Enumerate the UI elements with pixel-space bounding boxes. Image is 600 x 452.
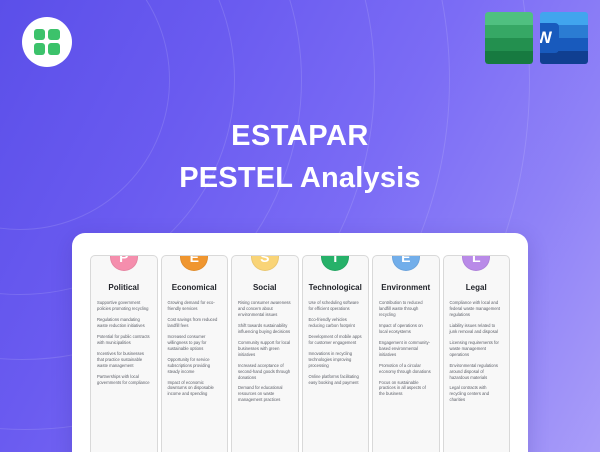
grid-blocks-icon bbox=[34, 29, 61, 56]
pestel-item: Innovations in recycling technologies im… bbox=[308, 351, 364, 369]
pestel-panel: PPoliticalSupportive government policies… bbox=[72, 233, 528, 452]
pestel-item: Compliance with local and federal waste … bbox=[449, 300, 505, 318]
pestel-item: Regulations mandating waste reduction in… bbox=[96, 317, 152, 329]
pestel-column-legal[interactable]: LLegalCompliance with local and federal … bbox=[443, 255, 511, 452]
pestel-column-environment[interactable]: EEnvironmentContribution to reduced land… bbox=[372, 255, 440, 452]
pestel-item: Environmental regulations around disposa… bbox=[449, 363, 505, 381]
pestel-badge-political: P bbox=[110, 255, 138, 271]
pestel-item-list: Contribution to reduced landfill waste t… bbox=[378, 300, 434, 397]
pestel-item: Contribution to reduced landfill waste t… bbox=[378, 300, 434, 318]
pestel-item: Potential for public contracts with muni… bbox=[96, 334, 152, 346]
pestel-item: Increased consumer willingness to pay fo… bbox=[167, 334, 223, 352]
pestel-badge-economical: E bbox=[180, 255, 208, 271]
office-icons-group: W bbox=[485, 12, 588, 64]
pestel-item: Development of mobile apps for customer … bbox=[308, 334, 364, 346]
pestel-column-title: Economical bbox=[167, 283, 223, 292]
pestel-item-list: Compliance with local and federal waste … bbox=[449, 300, 505, 403]
pestel-item: Online platforms facilitating easy booki… bbox=[308, 374, 364, 386]
pestel-item: Demand for educational resources on wast… bbox=[237, 385, 293, 403]
pestel-column-technological[interactable]: TTechnologicalUse of scheduling software… bbox=[302, 255, 370, 452]
pestel-columns: PPoliticalSupportive government policies… bbox=[90, 255, 510, 452]
pestel-item: Community support for local businesses w… bbox=[237, 340, 293, 358]
pestel-item: Promotion of a circular economy through … bbox=[378, 363, 434, 375]
pestel-item: Partnerships with local governments for … bbox=[96, 374, 152, 386]
pestel-column-political[interactable]: PPoliticalSupportive government policies… bbox=[90, 255, 158, 452]
pestel-item: Rising consumer awareness and concern ab… bbox=[237, 300, 293, 318]
page-subtitle: PESTEL Analysis bbox=[0, 160, 600, 196]
excel-icon[interactable] bbox=[485, 12, 533, 64]
pestel-item-list: Growing demand for eco-friendly services… bbox=[167, 300, 223, 397]
pestel-item-list: Use of scheduling software for efficient… bbox=[308, 300, 364, 385]
pestel-item: Licensing requirements for waste managem… bbox=[449, 340, 505, 358]
pestel-item: Legal contracts with recycling centers a… bbox=[449, 385, 505, 403]
pestel-badge-technological: T bbox=[321, 255, 349, 271]
pestel-item: Opportunity for service subscriptions pr… bbox=[167, 357, 223, 375]
pestel-column-title: Political bbox=[96, 283, 152, 292]
word-icon[interactable]: W bbox=[540, 12, 588, 64]
pestel-column-title: Social bbox=[237, 283, 293, 292]
pestel-item: Increased acceptance of second-hand good… bbox=[237, 363, 293, 381]
pestel-badge-legal: L bbox=[462, 255, 490, 271]
pestel-column-title: Technological bbox=[308, 283, 364, 292]
word-letter: W bbox=[540, 23, 559, 53]
pestel-item: Supportive government policies promoting… bbox=[96, 300, 152, 312]
pestel-item: Eco-friendly vehicles reducing carbon fo… bbox=[308, 317, 364, 329]
pestel-column-title: Environment bbox=[378, 283, 434, 292]
pestel-item: Use of scheduling software for efficient… bbox=[308, 300, 364, 312]
pestel-item: Liability issues related to junk removal… bbox=[449, 323, 505, 335]
page-title: ESTAPAR bbox=[0, 118, 600, 154]
pestel-item: Impact of economic downturns on disposab… bbox=[167, 380, 223, 398]
slide-canvas: W ESTAPAR PESTEL Analysis PPoliticalSupp… bbox=[0, 0, 600, 452]
pestel-column-social[interactable]: SSocialRising consumer awareness and con… bbox=[231, 255, 299, 452]
pestel-item: Growing demand for eco-friendly services bbox=[167, 300, 223, 312]
pestel-item: Shift towards sustainability influencing… bbox=[237, 323, 293, 335]
pestel-item: Impact of operations on local ecosystems bbox=[378, 323, 434, 335]
pestel-item-list: Supportive government policies promoting… bbox=[96, 300, 152, 385]
pestel-badge-environment: E bbox=[392, 255, 420, 271]
pestel-column-title: Legal bbox=[449, 283, 505, 292]
pestel-badge-social: S bbox=[251, 255, 279, 271]
pestel-item-list: Rising consumer awareness and concern ab… bbox=[237, 300, 293, 403]
pestel-column-economical[interactable]: EEconomicalGrowing demand for eco-friend… bbox=[161, 255, 229, 452]
title-block: ESTAPAR PESTEL Analysis bbox=[0, 118, 600, 197]
pestel-item: Incentives for businesses that practice … bbox=[96, 351, 152, 369]
pestel-item: Engagement in community-based environmen… bbox=[378, 340, 434, 358]
pestel-item: Focus on sustainable practices in all as… bbox=[378, 380, 434, 398]
pestel-item: Cost savings from reduced landfill fees bbox=[167, 317, 223, 329]
brand-logo bbox=[22, 17, 72, 67]
